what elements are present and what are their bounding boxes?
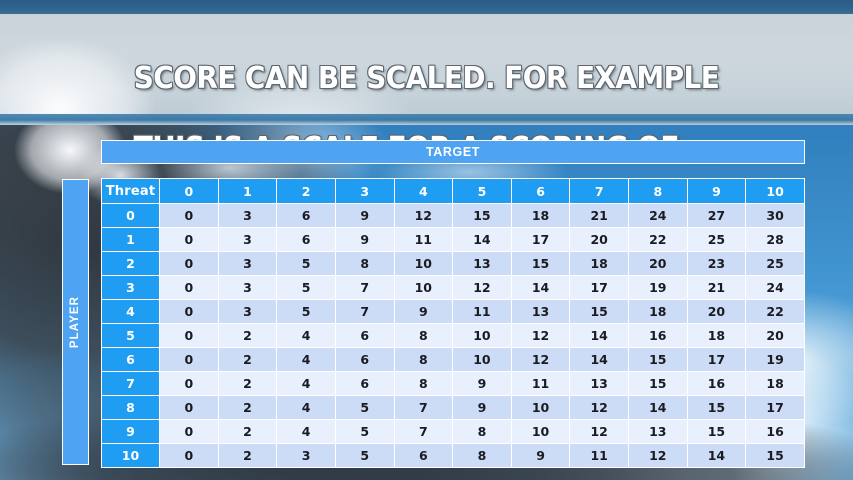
table-row: 502468101214161820 (102, 324, 805, 348)
cell-r1-c9: 25 (687, 228, 746, 252)
cell-r0-c5: 15 (453, 204, 512, 228)
column-header-7: 7 (570, 179, 629, 204)
cell-r0-c2: 6 (277, 204, 336, 228)
cell-r4-c4: 9 (394, 300, 453, 324)
cell-r10-c6: 9 (511, 444, 570, 468)
cell-r9-c6: 10 (511, 420, 570, 444)
cell-r3-c9: 21 (687, 276, 746, 300)
table-row: 90245781012131516 (102, 420, 805, 444)
cell-r2-c7: 18 (570, 252, 629, 276)
cell-r7-c0: 0 (160, 372, 219, 396)
cell-r0-c1: 3 (218, 204, 277, 228)
cell-r0-c7: 21 (570, 204, 629, 228)
player-axis-banner: PLAYER (62, 179, 89, 465)
cell-r5-c10: 20 (746, 324, 805, 348)
cell-r7-c7: 13 (570, 372, 629, 396)
table-corner-header: Threat (102, 179, 160, 204)
cell-r6-c3: 6 (335, 348, 394, 372)
cell-r3-c4: 10 (394, 276, 453, 300)
cell-r8-c0: 0 (160, 396, 219, 420)
column-header-5: 5 (453, 179, 512, 204)
cell-r9-c1: 2 (218, 420, 277, 444)
cell-r8-c8: 14 (629, 396, 688, 420)
target-axis-banner: TARGET (101, 140, 805, 164)
cell-r10-c2: 3 (277, 444, 336, 468)
cell-r7-c9: 16 (687, 372, 746, 396)
row-header-4: 4 (102, 300, 160, 324)
cell-r7-c10: 18 (746, 372, 805, 396)
cell-r7-c3: 6 (335, 372, 394, 396)
row-header-9: 9 (102, 420, 160, 444)
cell-r2-c8: 20 (629, 252, 688, 276)
cell-r9-c5: 8 (453, 420, 512, 444)
table-row: 403579111315182022 (102, 300, 805, 324)
target-axis-label: TARGET (426, 145, 480, 159)
cell-r1-c2: 6 (277, 228, 336, 252)
cell-r2-c5: 13 (453, 252, 512, 276)
cell-r7-c1: 2 (218, 372, 277, 396)
cell-r8-c9: 15 (687, 396, 746, 420)
cell-r9-c0: 0 (160, 420, 219, 444)
cell-r8-c10: 17 (746, 396, 805, 420)
cell-r2-c4: 10 (394, 252, 453, 276)
cell-r10-c0: 0 (160, 444, 219, 468)
cell-r10-c7: 11 (570, 444, 629, 468)
cell-r10-c1: 2 (218, 444, 277, 468)
table-row: 2035810131518202325 (102, 252, 805, 276)
column-header-6: 6 (511, 179, 570, 204)
cell-r4-c7: 15 (570, 300, 629, 324)
cell-r6-c9: 17 (687, 348, 746, 372)
cell-r5-c9: 18 (687, 324, 746, 348)
row-header-3: 3 (102, 276, 160, 300)
cell-r9-c3: 5 (335, 420, 394, 444)
cell-r0-c0: 0 (160, 204, 219, 228)
table-row: 70246891113151618 (102, 372, 805, 396)
cell-r7-c2: 4 (277, 372, 336, 396)
cell-r10-c3: 5 (335, 444, 394, 468)
cell-r3-c10: 24 (746, 276, 805, 300)
cell-r1-c10: 28 (746, 228, 805, 252)
cell-r1-c7: 20 (570, 228, 629, 252)
table-body: 0036912151821242730103691114172022252820… (102, 204, 805, 468)
cell-r5-c1: 2 (218, 324, 277, 348)
cell-r2-c3: 8 (335, 252, 394, 276)
column-header-9: 9 (687, 179, 746, 204)
cell-r8-c4: 7 (394, 396, 453, 420)
cell-r2-c0: 0 (160, 252, 219, 276)
cell-r4-c10: 22 (746, 300, 805, 324)
cell-r5-c3: 6 (335, 324, 394, 348)
cell-r10-c10: 15 (746, 444, 805, 468)
cell-r1-c1: 3 (218, 228, 277, 252)
cell-r3-c5: 12 (453, 276, 512, 300)
cell-r2-c2: 5 (277, 252, 336, 276)
cell-r5-c8: 16 (629, 324, 688, 348)
slide-title-line-1: SCORE CAN BE SCALED. FOR EXAMPLE (30, 61, 823, 96)
cell-r3-c0: 0 (160, 276, 219, 300)
cell-r5-c7: 14 (570, 324, 629, 348)
cell-r3-c3: 7 (335, 276, 394, 300)
cell-r8-c2: 4 (277, 396, 336, 420)
cell-r4-c5: 11 (453, 300, 512, 324)
top-accent-band (0, 0, 853, 14)
cell-r7-c6: 11 (511, 372, 570, 396)
cell-r7-c8: 15 (629, 372, 688, 396)
cell-r8-c7: 12 (570, 396, 629, 420)
cell-r8-c3: 5 (335, 396, 394, 420)
cell-r10-c8: 12 (629, 444, 688, 468)
column-header-2: 2 (277, 179, 336, 204)
row-header-1: 1 (102, 228, 160, 252)
table-row: 3035710121417192124 (102, 276, 805, 300)
player-axis-label: PLAYER (70, 296, 82, 348)
cell-r4-c1: 3 (218, 300, 277, 324)
cell-r9-c8: 13 (629, 420, 688, 444)
row-header-10: 10 (102, 444, 160, 468)
column-header-0: 0 (160, 179, 219, 204)
cell-r3-c6: 14 (511, 276, 570, 300)
cell-r5-c0: 0 (160, 324, 219, 348)
cell-r6-c6: 12 (511, 348, 570, 372)
cell-r0-c4: 12 (394, 204, 453, 228)
cell-r3-c2: 5 (277, 276, 336, 300)
cell-r1-c3: 9 (335, 228, 394, 252)
cell-r10-c5: 8 (453, 444, 512, 468)
table-row: 1036911141720222528 (102, 228, 805, 252)
table-header: Threat 012345678910 (102, 179, 805, 204)
row-header-2: 2 (102, 252, 160, 276)
cell-r0-c10: 30 (746, 204, 805, 228)
cell-r1-c5: 14 (453, 228, 512, 252)
cell-r0-c6: 18 (511, 204, 570, 228)
cell-r9-c2: 4 (277, 420, 336, 444)
cell-r6-c10: 19 (746, 348, 805, 372)
cell-r0-c3: 9 (335, 204, 394, 228)
cell-r8-c5: 9 (453, 396, 512, 420)
cell-r10-c4: 6 (394, 444, 453, 468)
column-header-8: 8 (629, 179, 688, 204)
cell-r3-c1: 3 (218, 276, 277, 300)
cell-r4-c2: 5 (277, 300, 336, 324)
table-row: 80245791012141517 (102, 396, 805, 420)
cell-r0-c9: 27 (687, 204, 746, 228)
table-row: 602468101214151719 (102, 348, 805, 372)
cell-r1-c8: 22 (629, 228, 688, 252)
column-header-4: 4 (394, 179, 453, 204)
cell-r4-c8: 18 (629, 300, 688, 324)
column-header-3: 3 (335, 179, 394, 204)
cell-r9-c4: 7 (394, 420, 453, 444)
cell-r2-c10: 25 (746, 252, 805, 276)
cell-r9-c10: 16 (746, 420, 805, 444)
cell-r0-c8: 24 (629, 204, 688, 228)
column-header-1: 1 (218, 179, 277, 204)
cell-r6-c0: 0 (160, 348, 219, 372)
cell-r1-c4: 11 (394, 228, 453, 252)
cell-r6-c4: 8 (394, 348, 453, 372)
cell-r9-c7: 12 (570, 420, 629, 444)
table-row: 0036912151821242730 (102, 204, 805, 228)
cell-r5-c5: 10 (453, 324, 512, 348)
cell-r2-c6: 15 (511, 252, 570, 276)
cell-r5-c4: 8 (394, 324, 453, 348)
row-header-6: 6 (102, 348, 160, 372)
slide-canvas: SCORE CAN BE SCALED. FOR EXAMPLE THIS IS… (0, 0, 853, 480)
cell-r1-c0: 0 (160, 228, 219, 252)
cell-r10-c9: 14 (687, 444, 746, 468)
cell-r6-c8: 15 (629, 348, 688, 372)
column-header-10: 10 (746, 179, 805, 204)
row-header-0: 0 (102, 204, 160, 228)
cell-r7-c4: 8 (394, 372, 453, 396)
cell-r1-c6: 17 (511, 228, 570, 252)
cell-r8-c6: 10 (511, 396, 570, 420)
cell-r2-c9: 23 (687, 252, 746, 276)
cell-r6-c1: 2 (218, 348, 277, 372)
cell-r2-c1: 3 (218, 252, 277, 276)
cell-r8-c1: 2 (218, 396, 277, 420)
cell-r3-c7: 17 (570, 276, 629, 300)
score-scale-table: Threat 012345678910 00369121518212427301… (101, 178, 805, 468)
row-header-8: 8 (102, 396, 160, 420)
cell-r4-c3: 7 (335, 300, 394, 324)
table-row: 10023568911121415 (102, 444, 805, 468)
cell-r4-c9: 20 (687, 300, 746, 324)
cell-r6-c2: 4 (277, 348, 336, 372)
table-header-row: Threat 012345678910 (102, 179, 805, 204)
cell-r4-c0: 0 (160, 300, 219, 324)
row-header-5: 5 (102, 324, 160, 348)
cell-r9-c9: 15 (687, 420, 746, 444)
cell-r3-c8: 19 (629, 276, 688, 300)
cell-r5-c2: 4 (277, 324, 336, 348)
cell-r4-c6: 13 (511, 300, 570, 324)
cell-r6-c7: 14 (570, 348, 629, 372)
cell-r7-c5: 9 (453, 372, 512, 396)
cell-r6-c5: 10 (453, 348, 512, 372)
cell-r5-c6: 12 (511, 324, 570, 348)
row-header-7: 7 (102, 372, 160, 396)
